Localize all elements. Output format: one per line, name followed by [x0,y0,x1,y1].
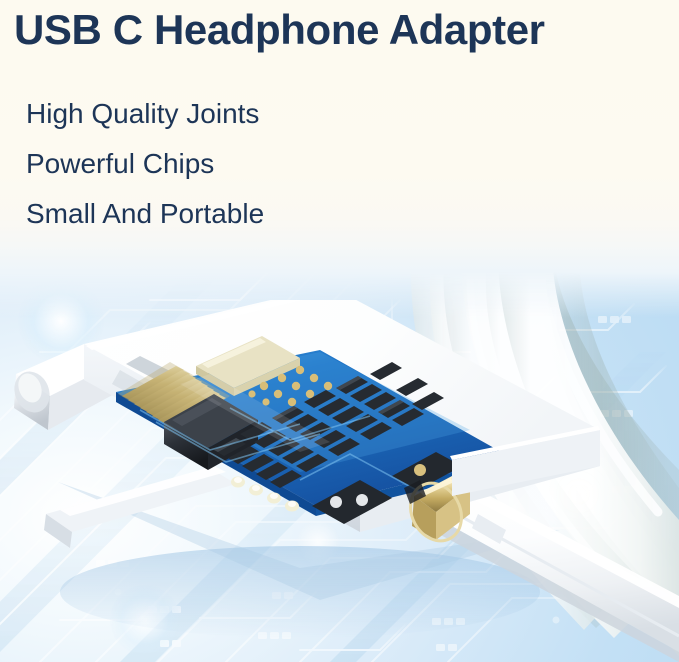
page-title: USB C Headphone Adapter [14,8,674,52]
feature-item: Powerful Chips [26,150,446,178]
product-poster: USB C Headphone Adapter High Quality Joi… [0,0,679,662]
feature-item: High Quality Joints [26,100,446,128]
feature-item: Small And Portable [26,200,446,228]
usb-c-adapter-image [0,300,679,662]
feature-list: High Quality Joints Powerful Chips Small… [26,100,446,250]
